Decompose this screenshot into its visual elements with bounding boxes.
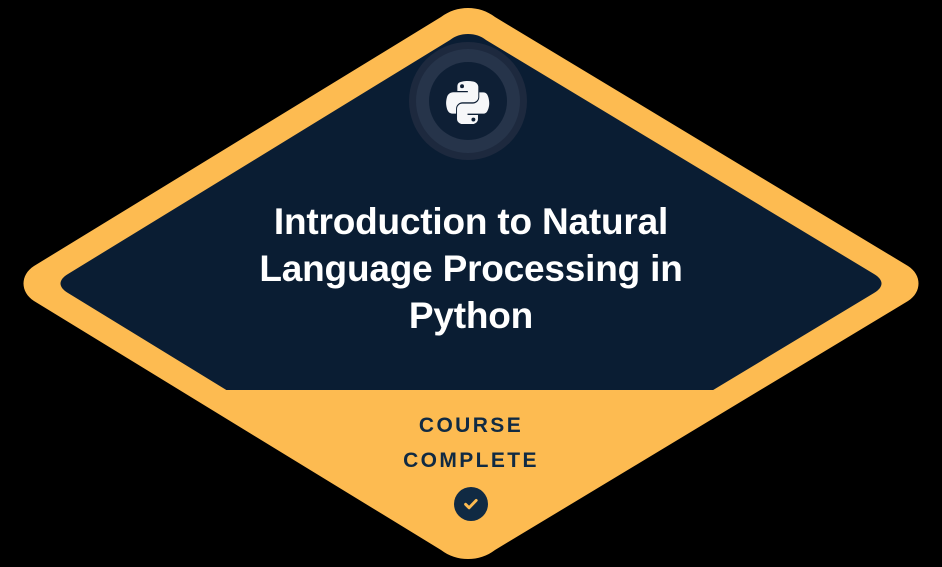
check-mark-icon bbox=[461, 494, 481, 514]
status-line-2: COMPLETE bbox=[261, 443, 681, 478]
course-completion-badge: Introduction to Natural Language Process… bbox=[0, 0, 942, 567]
course-title-line-3: Python bbox=[201, 292, 741, 339]
completion-status: COURSE COMPLETE bbox=[261, 408, 681, 521]
check-circle-icon bbox=[454, 487, 488, 521]
course-title: Introduction to Natural Language Process… bbox=[201, 198, 741, 339]
status-line-1: COURSE bbox=[261, 408, 681, 443]
course-title-line-2: Language Processing in bbox=[201, 245, 741, 292]
course-title-line-1: Introduction to Natural bbox=[201, 198, 741, 245]
python-logo-icon bbox=[445, 78, 491, 124]
